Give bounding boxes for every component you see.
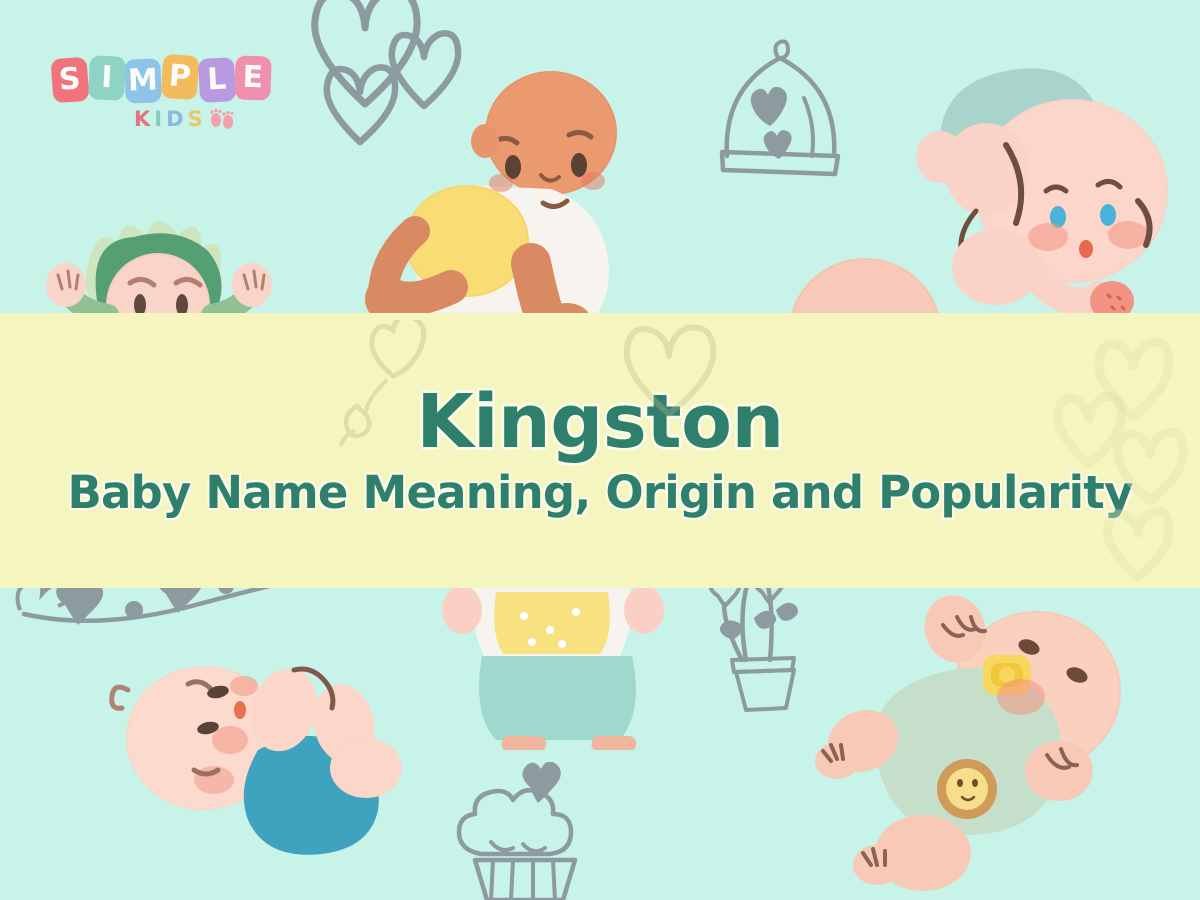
logo-kids-letter-s: S xyxy=(188,107,207,131)
logo-letter-e: E xyxy=(235,55,272,100)
logo-word-kids: K I D S xyxy=(134,107,272,131)
logo-letter-s: S xyxy=(51,57,90,103)
title-banner: Kingston Baby Name Meaning, Origin and P… xyxy=(0,313,1200,588)
page-title: Kingston xyxy=(416,385,783,459)
logo-kids-letter-i: I xyxy=(154,107,166,131)
page-subtitle: Baby Name Meaning, Origin and Popularity xyxy=(67,469,1132,516)
logo-kids-letter-d: D xyxy=(166,107,187,131)
logo-kids-letter-k: K xyxy=(134,107,154,131)
logo-letter-i: I xyxy=(88,55,126,101)
logo-letter-m: M xyxy=(125,58,162,103)
logo-letter-p: P xyxy=(161,54,200,100)
baby-footprints-icon xyxy=(209,108,235,130)
site-logo[interactable]: S I M P L E K I D S xyxy=(52,55,272,145)
poster-canvas: Kingston Baby Name Meaning, Origin and P… xyxy=(0,0,1200,900)
logo-letter-l: L xyxy=(198,57,236,103)
logo-word-simple: S I M P L E xyxy=(52,55,272,103)
